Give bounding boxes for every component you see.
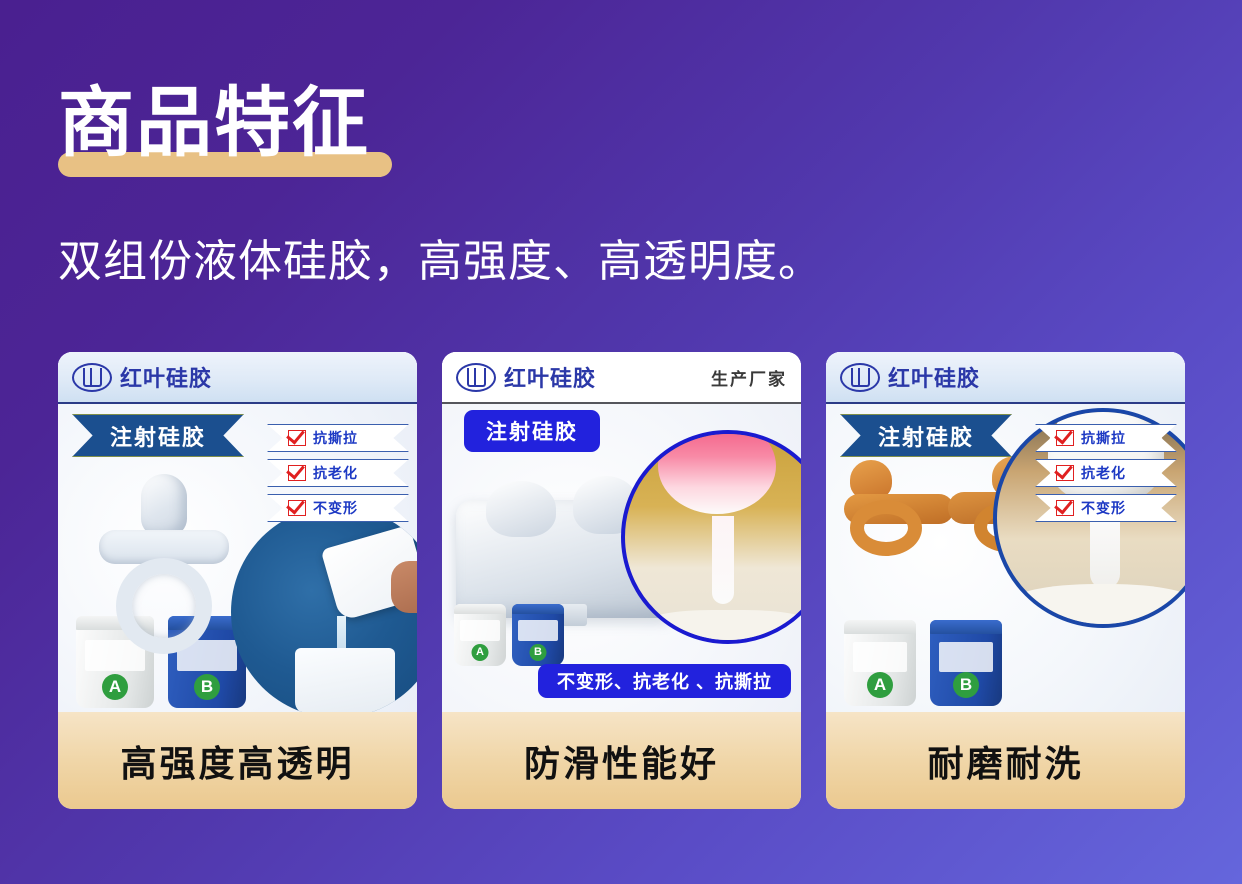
card-caption: 防滑性能好 [442,712,801,809]
feature-badge-label: 不变形 [313,498,358,518]
manufacturer-label: 生产厂家 [711,365,787,390]
check-icon [288,465,306,481]
check-icon [1056,465,1074,481]
bucket-label [939,642,994,671]
feature-badge: 抗老化 [1035,459,1177,487]
feature-badge-list: 抗撕拉 抗老化 不变形 [1035,424,1177,529]
feature-badge: 抗撕拉 [1035,424,1177,452]
bucket-lid [512,604,564,614]
feature-badge: 抗撕拉 [267,424,409,452]
card-photo: 红叶 红叶硅胶 注射硅胶 抗撕拉 抗老 [58,352,417,712]
feature-badge: 不变形 [1035,494,1177,522]
bucket-lid [454,604,506,614]
card-caption: 高强度高透明 [58,712,417,809]
silicone-blob [658,430,776,514]
brand-logo-icon [72,363,112,392]
feature-card-list: 红叶 红叶硅胶 注射硅胶 抗撕拉 抗老 [58,352,1184,809]
silicone-pool [1010,584,1185,624]
feature-badge-label: 抗老化 [1081,463,1126,483]
product-ribbon-label: 注射硅胶 [110,420,206,452]
hand [391,561,417,613]
bucket-b-marker: B [530,644,547,661]
bucket-label [518,620,558,641]
bucket-a: A [454,604,506,666]
pacifier-nipple [141,474,187,536]
product-pill-banner: 注射硅胶 [464,410,600,452]
page-title: 商品特征 [58,72,370,176]
feature-strip-banner: 不变形、抗老化 、抗撕拉 [538,664,791,698]
feature-badge-label: 不变形 [1081,498,1126,518]
bucket-label [853,642,908,671]
card-caption-label: 防滑性能好 [524,735,719,787]
product-ribbon-banner: 注射硅胶 [72,414,244,457]
feature-card[interactable]: 红叶 红叶硅胶 注射硅胶 抗撕拉 抗老化 [826,352,1185,809]
bucket-a: A [844,620,916,706]
card-caption-label: 高强度高透明 [120,735,354,787]
bucket-b-marker: B [194,674,220,700]
brand-header: 红叶硅胶 [58,352,417,404]
bucket-lid [844,620,916,634]
pacifier-ring [850,500,922,556]
feature-badge-list: 抗撕拉 抗老化 不变形 [267,424,409,529]
bucket-b: B [512,604,564,666]
bucket-label [460,620,500,641]
page-title-block: 商品特征 [58,72,858,184]
product-ribbon-label: 注射硅胶 [878,420,974,452]
product-pill-label: 注射硅胶 [486,420,578,444]
feature-strip-label: 不变形、抗老化 、抗撕拉 [557,668,772,694]
check-icon [288,430,306,446]
pacifier-ring [116,558,212,654]
brand-header: 红叶硅胶 生产厂家 [442,352,801,404]
product-feature-poster: 商品特征 双组份液体硅胶，高强度、高透明度。 红叶 红叶硅胶 注射硅胶 [0,0,1242,884]
feature-badge-label: 抗老化 [313,463,358,483]
brand-name: 红叶硅胶 [888,361,980,393]
product-ribbon-banner: 注射硅胶 [840,414,1012,457]
feature-badge: 不变形 [267,494,409,522]
brand-logo-icon [840,363,880,392]
check-icon [288,500,306,516]
page-subtitle: 双组份液体硅胶，高强度、高透明度。 [58,232,823,292]
brand-logo-icon [456,363,496,392]
feature-badge: 抗老化 [267,459,409,487]
feature-card[interactable]: 红叶 红叶硅胶 注射硅胶 抗撕拉 抗老 [58,352,417,809]
card-photo: 红叶 红叶硅胶 注射硅胶 抗撕拉 抗老化 [826,352,1185,712]
case-dome-left [486,481,556,537]
brand-header: 红叶硅胶 [826,352,1185,404]
card-caption-label: 耐磨耐洗 [927,735,1083,787]
silicone-pool [646,610,801,640]
feature-card[interactable]: 红叶 红叶硅胶 生产厂家 注射硅胶 [442,352,801,809]
feature-badge-label: 抗撕拉 [313,428,358,448]
feature-badge-label: 抗撕拉 [1081,428,1126,448]
brand-name: 红叶硅胶 [120,361,212,393]
bucket-lid [930,620,1002,634]
card-photo: 红叶 红叶硅胶 生产厂家 注射硅胶 [442,352,801,712]
silicone-stream [712,516,734,604]
bucket-b-marker: B [953,672,979,698]
card-caption: 耐磨耐洗 [826,712,1185,809]
bucket-a-marker: A [867,672,893,698]
bucket-a-marker: A [472,644,489,661]
bucket-a-marker: A [102,674,128,700]
brand-name: 红叶硅胶 [504,361,596,393]
bucket-b: B [930,620,1002,706]
pacifier-photo [94,474,234,644]
check-icon [1056,500,1074,516]
check-icon [1056,430,1074,446]
receiving-bucket [295,648,395,712]
